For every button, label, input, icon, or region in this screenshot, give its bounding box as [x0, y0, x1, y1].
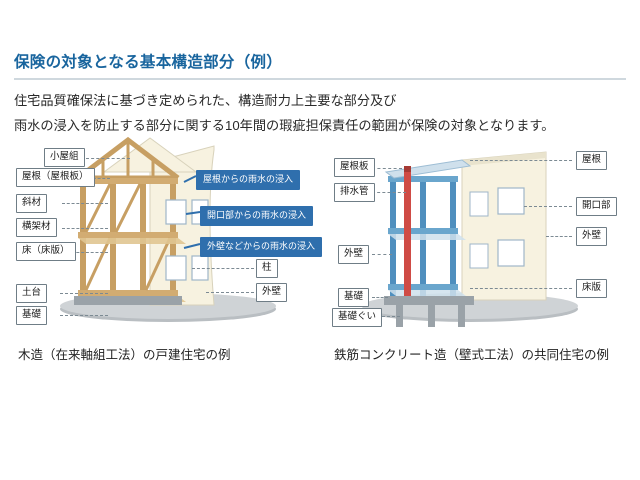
leader-kaikobu: [524, 206, 572, 207]
callout-wall-rain: 外壁などからの雨水の浸入: [200, 237, 322, 257]
leader-yukaban-rc: [470, 288, 572, 289]
label-okazai: 横架材: [16, 218, 57, 237]
label-gaiheki-rc-left: 外壁: [338, 245, 369, 264]
label-hashira: 柱: [256, 259, 278, 278]
leader-gaiheki-rc-right: [546, 236, 572, 237]
label-kiso-rc: 基礎: [338, 288, 369, 307]
label-kaikobu: 開口部: [576, 197, 617, 216]
label-haisuikan: 排水管: [334, 183, 375, 202]
label-dodai: 土台: [16, 284, 47, 303]
leader-shazai: [62, 203, 108, 204]
leader-gaiheki: [206, 292, 254, 293]
callout-roof-rain: 屋根からの雨水の浸入: [196, 170, 300, 190]
label-shazai: 斜材: [16, 194, 47, 213]
page-title: 保険の対象となる基本構造部分（例）: [14, 50, 282, 72]
lead-line-1: 住宅品質確保法に基づき定められた、構造耐力上主要な部分及び: [14, 88, 630, 113]
label-koyagumi: 小屋組: [44, 148, 85, 167]
callout-opening-rain: 開口部からの雨水の浸入: [200, 206, 313, 226]
label-gaiheki-wood: 外壁: [256, 283, 287, 302]
label-yukaban-rc: 床版: [576, 279, 607, 298]
leader-koyagumi: [86, 158, 130, 159]
lead-paragraph: 住宅品質確保法に基づき定められた、構造耐力上主要な部分及び 雨水の浸入を防止する…: [14, 88, 630, 138]
label-yukaban: 床（床版）: [16, 242, 76, 261]
label-kisogui: 基礎ぐい: [332, 308, 382, 327]
leader-gaiheki-rc-left: [372, 254, 392, 255]
label-kiso: 基礎: [16, 306, 47, 325]
leader-dodai: [60, 293, 108, 294]
leader-yaneban-rc: [372, 168, 402, 169]
leader-haisuikan: [372, 192, 406, 193]
label-gaiheki-rc-right: 外壁: [576, 227, 607, 246]
leader-kiso: [60, 315, 108, 316]
leader-kiso-rc: [372, 297, 388, 298]
label-yaneban-rc: 屋根板: [334, 158, 375, 177]
title-divider: [14, 78, 626, 80]
lead-line-2: 雨水の浸入を防止する部分に関する10年間の瑕疵担保責任の範囲が保険の対象となりま…: [14, 113, 630, 138]
leader-yane-rc-right: [470, 160, 572, 161]
leader-hashira: [192, 268, 254, 269]
caption-rc-house: 鉄筋コンクリート造（壁式工法）の共同住宅の例: [334, 344, 609, 363]
label-yane-rc: 屋根: [576, 151, 607, 170]
page-root: 保険の対象となる基本構造部分（例） 住宅品質確保法に基づき定められた、構造耐力上…: [0, 0, 640, 480]
leader-okazai: [62, 228, 108, 229]
label-yaneban: 屋根（屋根板）: [16, 168, 95, 187]
caption-wood-house: 木造（在来軸組工法）の戸建住宅の例: [18, 344, 231, 363]
